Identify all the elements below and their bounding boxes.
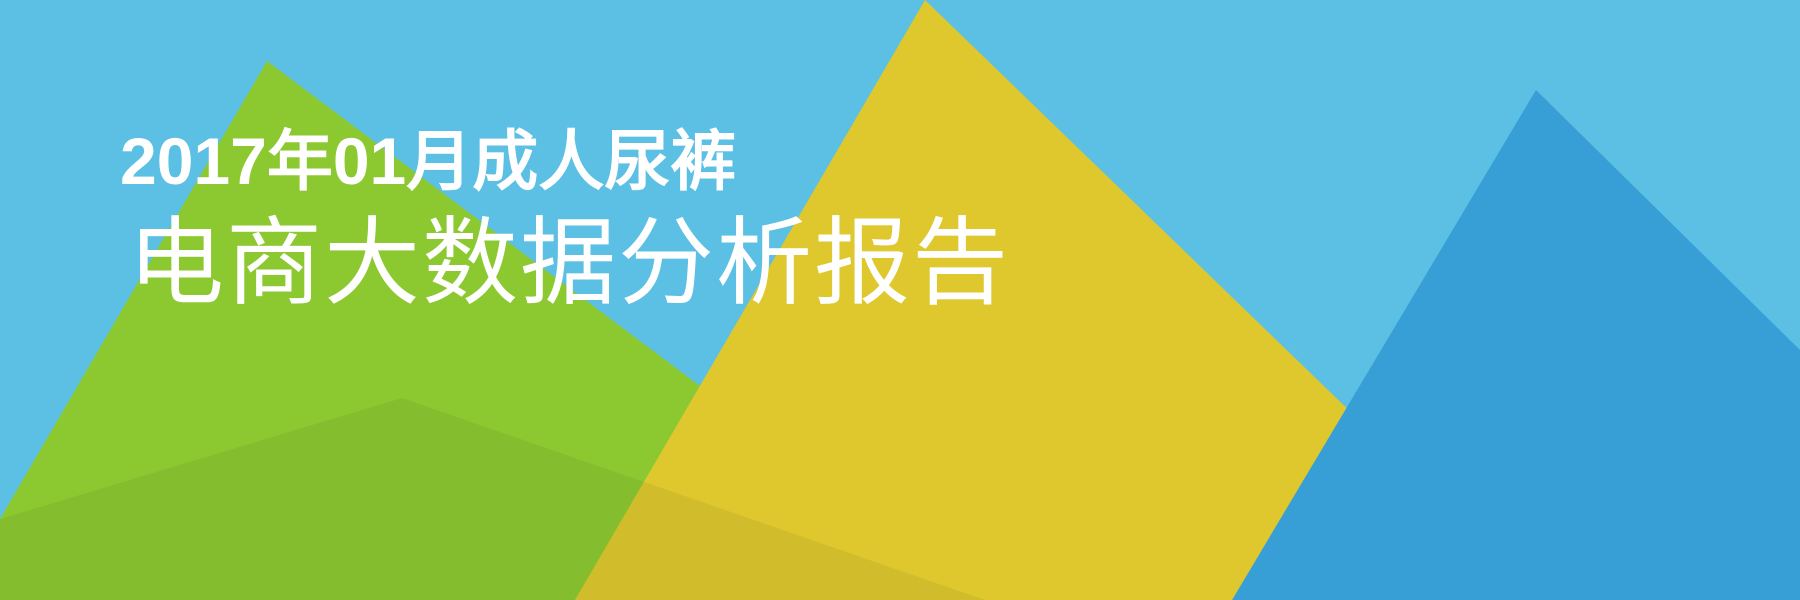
banner-title-line-1: 2017年01月成人尿裤	[120, 128, 1010, 206]
banner-title-block: 2017年01月成人尿裤 电商大数据分析报告	[120, 128, 1010, 326]
banner-title-line-2: 电商大数据分析报告	[128, 216, 1010, 326]
report-cover-banner: 2017年01月成人尿裤 电商大数据分析报告	[0, 0, 1800, 600]
